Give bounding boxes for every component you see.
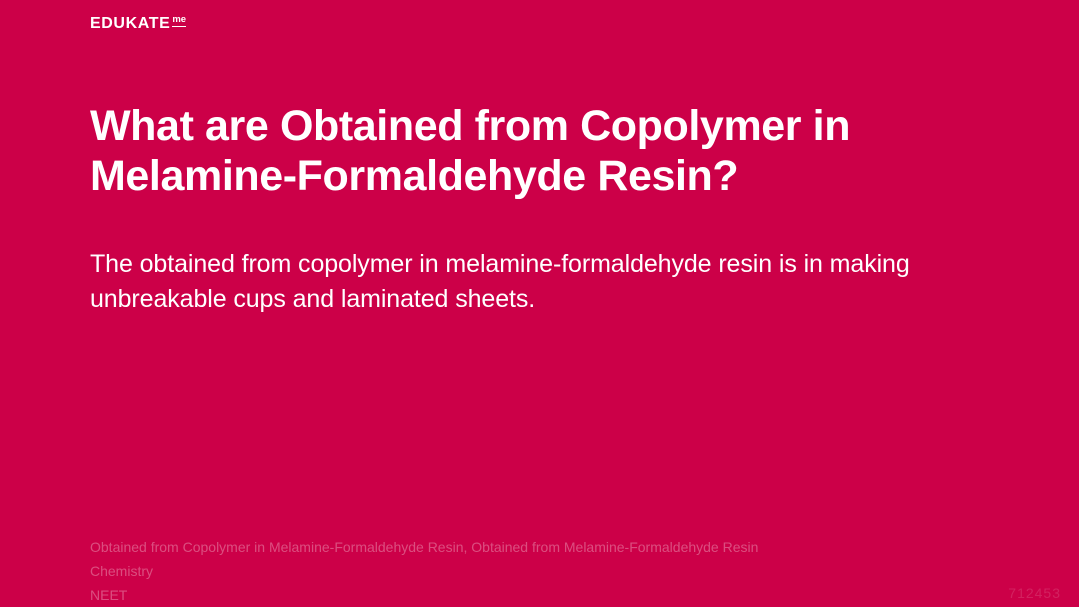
footer-subject: Chemistry xyxy=(90,559,970,583)
footer-tags: Obtained from Copolymer in Melamine-Form… xyxy=(90,535,970,559)
slide-body-text: The obtained from copolymer in melamine-… xyxy=(90,247,950,317)
slide-footer: Obtained from Copolymer in Melamine-Form… xyxy=(90,535,970,607)
brand-suffix: me xyxy=(172,15,186,27)
brand-name: EDUKATE xyxy=(90,16,170,32)
slide-id-watermark: 712453 xyxy=(1008,585,1061,601)
footer-exam: NEET xyxy=(90,583,970,607)
slide-headline: What are Obtained from Copolymer in Mela… xyxy=(90,101,970,201)
edukate-logo[interactable]: EDUKATE me xyxy=(90,16,186,32)
slide-canvas: EDUKATE me What are Obtained from Copoly… xyxy=(0,0,1079,607)
